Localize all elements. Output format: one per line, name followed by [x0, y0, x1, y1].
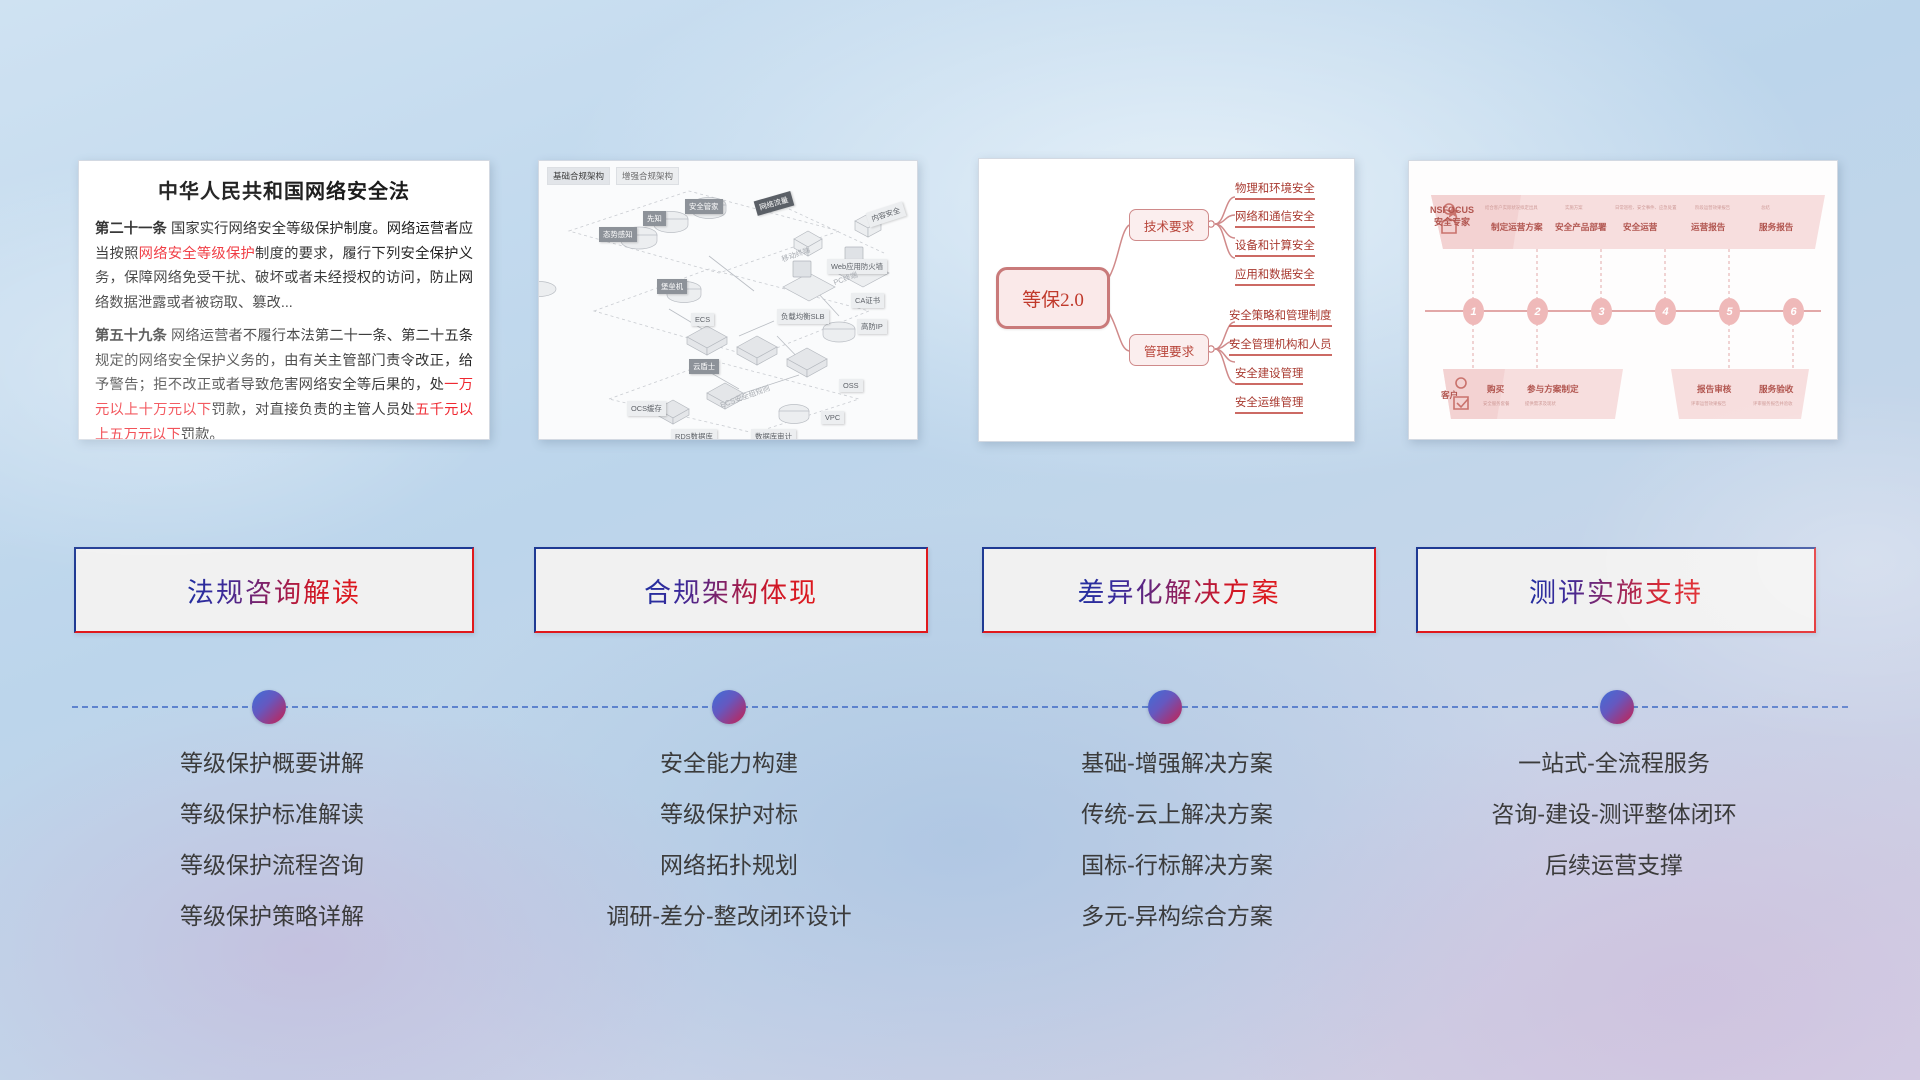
process-step-number-4: 4 [1655, 298, 1676, 325]
arch-node-yundunshi: 云盾士 [689, 359, 719, 374]
list-item: 安全能力构建 [534, 738, 924, 789]
mindmap-leaf-construction-mgmt: 安全建设管理 [1235, 365, 1303, 385]
process-top-sub-2: 实施方案 [1565, 205, 1583, 211]
arch-node-slb: 负载均衡SLB [777, 309, 829, 324]
mindmap-leaf-security-policy: 安全策略和管理制度 [1229, 307, 1332, 327]
timeline-dashed-line [72, 706, 1848, 708]
arch-node-xianzhi: 先知 [643, 211, 666, 226]
law-article-59-text-c: 罚款。 [181, 427, 224, 440]
law-article-59-text-b: 罚款，对直接负责的主管人员处 [211, 402, 415, 418]
law-paragraph-59: 第五十九条 网络运营者不履行本法第二十一条、第二十五条规定的网络安全保护义务的，… [95, 324, 473, 440]
timeline-dot-2[interactable] [712, 690, 746, 724]
timeline-dot-4[interactable] [1600, 690, 1634, 724]
list-item: 后续运营支撑 [1416, 840, 1812, 891]
list-item: 等级保护概要讲解 [74, 738, 470, 789]
process-top-title-4: 运营报告 [1691, 221, 1725, 233]
process-timeline-graphic: NSFOCUS 安全专家 客户 结合客户实际状况拟定出具 制定运营方案 实施方案… [1409, 161, 1837, 439]
detail-lists-row: 等级保护概要讲解 等级保护标准解读 等级保护流程咨询 等级保护策略详解 安全能力… [0, 738, 1920, 998]
process-top-sub-3: 日常巡检、安全事件、应急处置 [1615, 205, 1676, 211]
mindmap: 等保2.0 技术要求 管理要求 物理和环境安全 网络和通信安全 设备和计算安全 … [979, 159, 1354, 441]
law-body: 中华人民共和国网络安全法 第二十一条 国家实行网络安全等级保护制度。网络运营者应… [79, 161, 489, 439]
mindmap-leaf-device-computing: 设备和计算安全 [1235, 237, 1315, 257]
process-bottom-title-2: 参与方案制定 [1527, 383, 1579, 395]
law-title: 中华人民共和国网络安全法 [95, 175, 473, 204]
list-item: 国标-行标解决方案 [982, 840, 1372, 891]
timeline [0, 690, 1920, 724]
process-bottom-sub-3: 评审运营效果报告 [1691, 401, 1726, 407]
list-item: 一站式-全流程服务 [1416, 738, 1812, 789]
slide-canvas: 中华人民共和国网络安全法 第二十一条 国家实行网络安全等级保护制度。网络运营者应… [0, 0, 1920, 1080]
detail-list-compliance-architecture: 安全能力构建 等级保护对标 网络拓扑规划 调研-差分-整改闭环设计 [534, 738, 924, 942]
section-headings-row: 法规咨询解读 合规架构体现 差异化解决方案 测评实施支持 [0, 547, 1920, 639]
process-brand: NSFOCUS 安全专家 [1423, 205, 1481, 228]
law-article-59-label: 第五十九条 [95, 328, 167, 344]
heading-box-differentiated-solution[interactable]: 差异化解决方案 [982, 547, 1376, 633]
arch-node-rds-database: RDS数据库 [671, 429, 717, 440]
process-step-number-6: 6 [1783, 298, 1804, 325]
process-bottom-title-4: 服务验收 [1759, 383, 1793, 395]
process-bottom-sub-4: 评审服务报告并验收 [1753, 401, 1793, 407]
heading-box-regulation-consulting[interactable]: 法规咨询解读 [74, 547, 474, 633]
list-item: 传统-云上解决方案 [982, 789, 1372, 840]
law-article-21-label: 第二十一条 [95, 221, 167, 237]
detail-list-regulation-consulting: 等级保护概要讲解 等级保护标准解读 等级保护流程咨询 等级保护策略详解 [74, 738, 470, 942]
mindmap-leaf-ops-mgmt: 安全运维管理 [1235, 394, 1303, 414]
process-top-title-5: 服务报告 [1759, 221, 1793, 233]
process-bottom-title-3: 报告审核 [1697, 383, 1731, 395]
process-step-number-3: 3 [1591, 298, 1612, 325]
heading-label-4: 测评实施支持 [1529, 571, 1703, 610]
card-cybersecurity-law[interactable]: 中华人民共和国网络安全法 第二十一条 国家实行网络安全等级保护制度。网络运营者应… [78, 160, 490, 440]
heading-label-3: 差异化解决方案 [1078, 571, 1281, 610]
process-top-title-2: 安全产品部署 [1555, 221, 1607, 233]
list-item: 调研-差分-整改闭环设计 [534, 891, 924, 942]
detail-list-differentiated-solution: 基础-增强解决方案 传统-云上解决方案 国标-行标解决方案 多元-异构综合方案 [982, 738, 1372, 942]
arch-node-ecs: ECS [691, 313, 714, 326]
process-top-title-1: 制定运营方案 [1491, 221, 1543, 233]
list-item: 基础-增强解决方案 [982, 738, 1372, 789]
mindmap-leaf-network-communication: 网络和通信安全 [1235, 208, 1315, 228]
process-step-number-5: 5 [1719, 298, 1740, 325]
card-mindmap-dengbao[interactable]: 等保2.0 技术要求 管理要求 物理和环境安全 网络和通信安全 设备和计算安全 … [978, 158, 1355, 442]
heading-label-1: 法规咨询解读 [187, 571, 361, 610]
arch-node-security-butler: 安全管家 [685, 199, 723, 214]
mindmap-branch-management: 管理要求 [1129, 334, 1209, 366]
law-article-21-highlight: 网络安全等级保护 [139, 246, 255, 262]
timeline-dot-3[interactable] [1148, 690, 1182, 724]
process-top-sub-1: 结合客户实际状况拟定出具 [1485, 205, 1538, 211]
timeline-dot-1[interactable] [252, 690, 286, 724]
mindmap-root-node: 等保2.0 [996, 267, 1110, 329]
list-item: 咨询-建设-测评整体闭环 [1416, 789, 1812, 840]
arch-node-anti-ddos-ip: 高防IP [857, 319, 887, 334]
list-item: 等级保护流程咨询 [74, 840, 470, 891]
process-customer-label: 客户 [1441, 389, 1458, 401]
arch-node-bastion-host: 堡垒机 [657, 279, 687, 294]
process-top-sub-5: 总结 [1761, 205, 1770, 211]
arch-node-ca-certificate: CA证书 [851, 293, 884, 308]
preview-cards-row: 中华人民共和国网络安全法 第二十一条 国家实行网络安全等级保护制度。网络运营者应… [0, 150, 1920, 435]
arch-node-database-audit: 数据库审计 [751, 429, 796, 440]
list-item: 多元-异构综合方案 [982, 891, 1372, 942]
process-top-sub-4: 阶段运营效果报告 [1695, 205, 1730, 211]
law-paragraph-21: 第二十一条 国家实行网络安全等级保护制度。网络运营者应当按照网络安全等级保护制度… [95, 217, 473, 315]
mindmap-leaf-application-data: 应用和数据安全 [1235, 266, 1315, 286]
list-item: 网络拓扑规划 [534, 840, 924, 891]
arch-node-situational-awareness: 态势感知 [599, 227, 637, 242]
heading-label-2: 合规架构体现 [644, 571, 818, 610]
mindmap-branch-technical: 技术要求 [1129, 209, 1209, 241]
mindmap-leaf-physical-environment: 物理和环境安全 [1235, 180, 1315, 200]
arch-node-vpc: VPC [821, 411, 844, 424]
arch-node-ocs-cache: OCS缓存 [627, 401, 666, 416]
card-service-process[interactable]: NSFOCUS 安全专家 客户 结合客户实际状况拟定出具 制定运营方案 实施方案… [1408, 160, 1838, 440]
heading-box-compliance-architecture[interactable]: 合规架构体现 [534, 547, 928, 633]
architecture-diagram: 基础合规架构 增强合规架构 [539, 161, 917, 439]
detail-list-evaluation-support: 一站式-全流程服务 咨询-建设-测评整体闭环 后续运营支撑 [1416, 738, 1812, 891]
process-bottom-title-1: 购买 [1487, 383, 1504, 395]
heading-box-evaluation-support[interactable]: 测评实施支持 [1416, 547, 1816, 633]
arch-node-oss: OSS [839, 379, 863, 392]
process-step-number-2: 2 [1527, 298, 1548, 325]
mindmap-leaf-security-org: 安全管理机构和人员 [1229, 336, 1332, 356]
list-item: 等级保护对标 [534, 789, 924, 840]
list-item: 等级保护策略详解 [74, 891, 470, 942]
card-cloud-architecture[interactable]: 基础合规架构 增强合规架构 [538, 160, 918, 440]
process-bottom-sub-2: 提供需求及现状 [1525, 401, 1556, 407]
process-bottom-sub-1: 安全服务套餐 [1483, 401, 1509, 407]
list-item: 等级保护标准解读 [74, 789, 470, 840]
process-step-number-1: 1 [1463, 298, 1484, 325]
process-top-title-3: 安全运营 [1623, 221, 1657, 233]
process-brand-line1: NSFOCUS [1430, 205, 1474, 215]
process-brand-line2: 安全专家 [1434, 217, 1470, 227]
